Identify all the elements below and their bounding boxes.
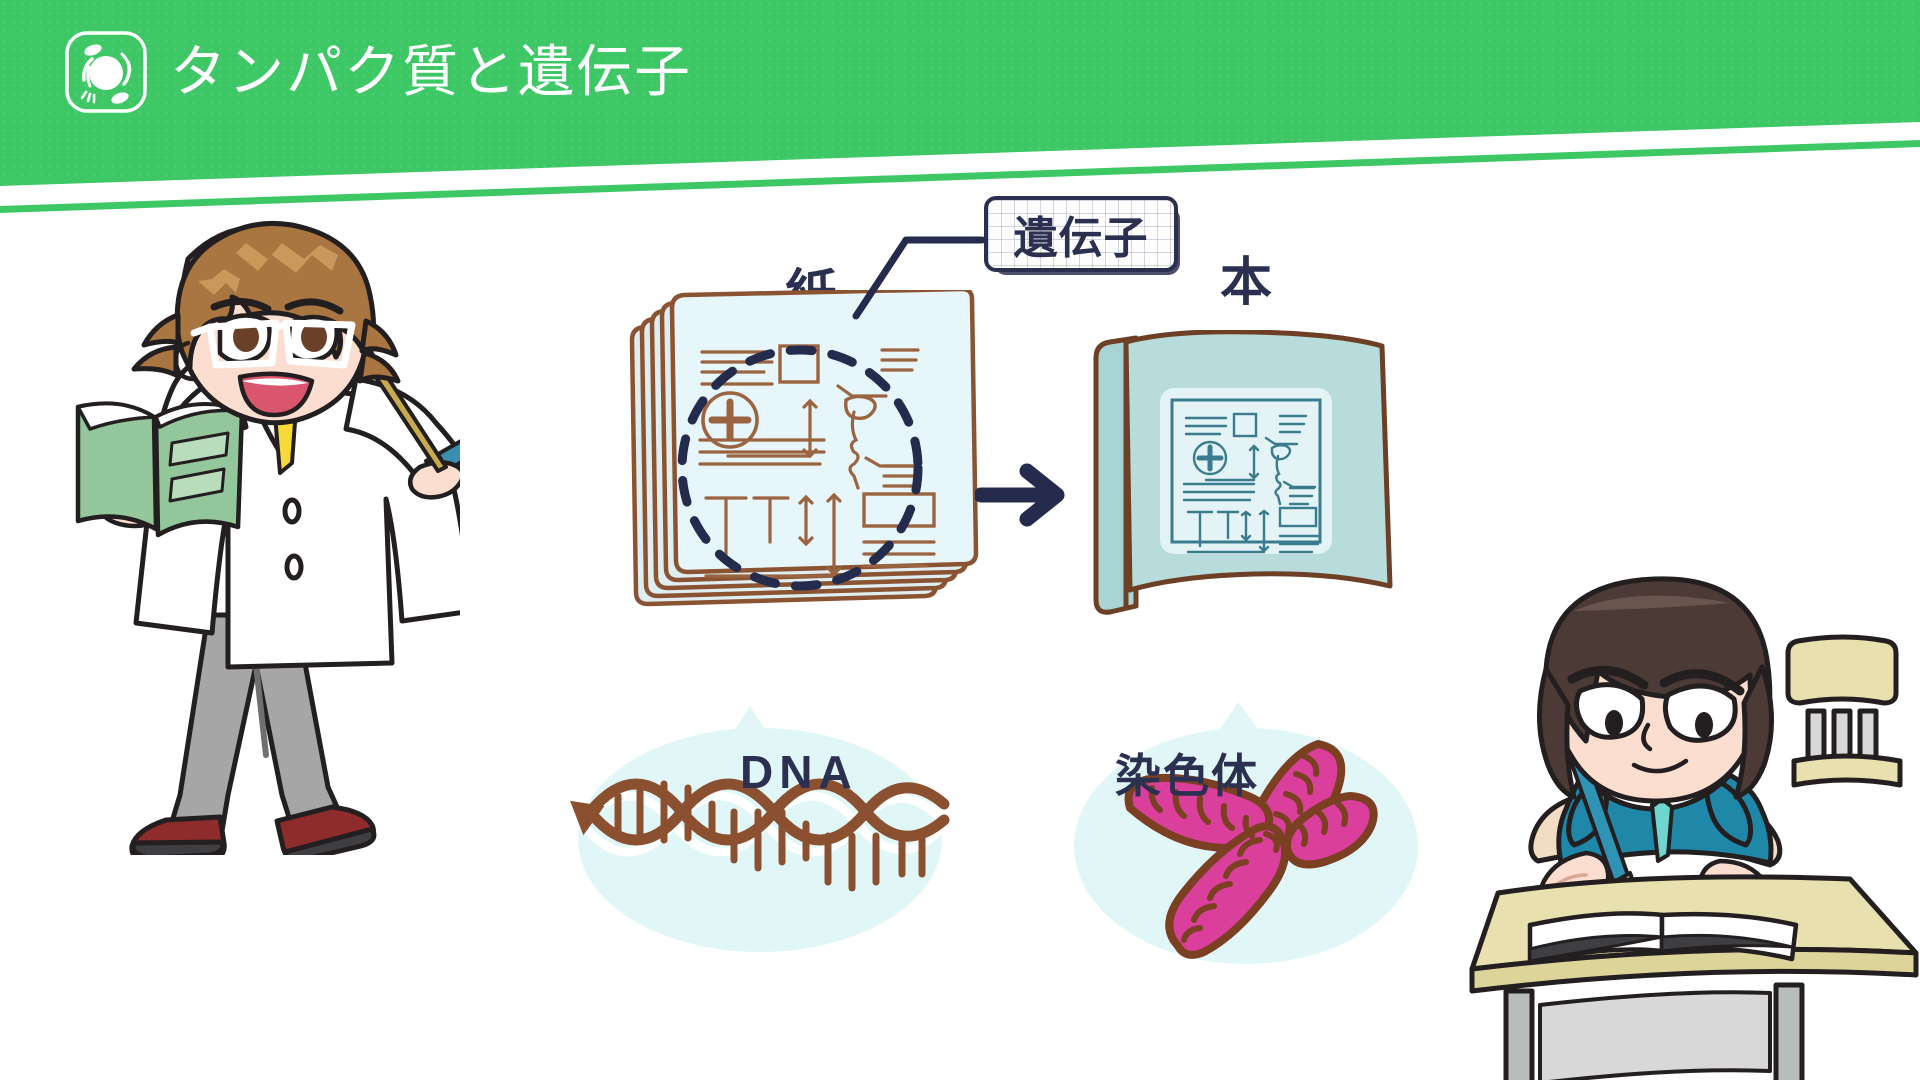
brand: タンパク質と遺伝子: [62, 28, 692, 116]
book-illustration: [1090, 330, 1410, 620]
green-book: [78, 404, 242, 535]
cell-nucleus-icon: [62, 28, 150, 116]
dna-section: [560, 700, 980, 970]
character-scientist: [60, 195, 460, 855]
header-title: タンパク質と遺伝子: [170, 44, 692, 100]
arrow-right-icon: [975, 455, 1085, 535]
chromosome-caption: 染色体: [1115, 740, 1259, 806]
slide-canvas: タンパク質と遺伝子: [0, 0, 1920, 1080]
dna-caption: DNA: [740, 745, 858, 799]
callout-label: 遺伝子: [1014, 202, 1149, 266]
callout-box: 遺伝子: [984, 196, 1178, 272]
character-student: [1390, 575, 1920, 1080]
book-label: 本: [1220, 240, 1272, 315]
gene-callout[interactable]: 遺伝子: [984, 196, 1182, 276]
